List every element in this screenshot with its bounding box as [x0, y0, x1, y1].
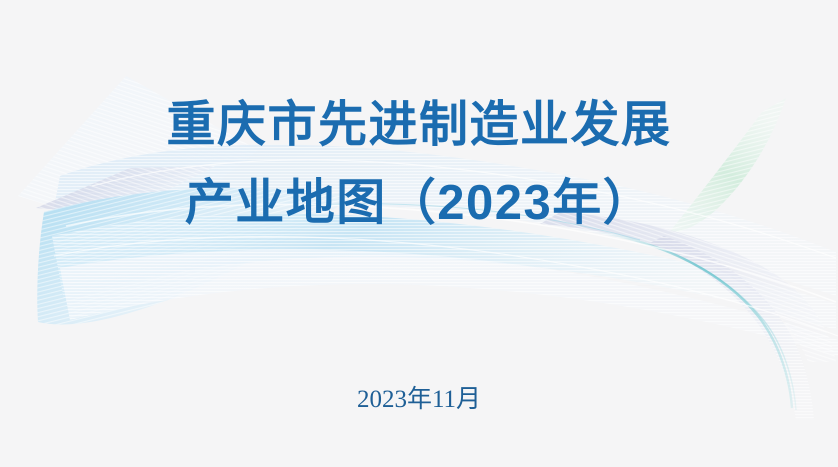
ribbon-lower-fade-band	[60, 249, 838, 356]
title-line-1: 重庆市先进制造业发展	[0, 86, 838, 164]
title-line-2: 产业地图（2023年）	[0, 164, 838, 242]
publication-date: 2023年11月	[0, 384, 838, 416]
page-title: 重庆市先进制造业发展 产业地图（2023年）	[0, 86, 838, 242]
subtitle: 2023年11月	[0, 384, 838, 416]
cover-slide: 重庆市先进制造业发展 产业地图（2023年） 2023年11月	[0, 0, 838, 467]
